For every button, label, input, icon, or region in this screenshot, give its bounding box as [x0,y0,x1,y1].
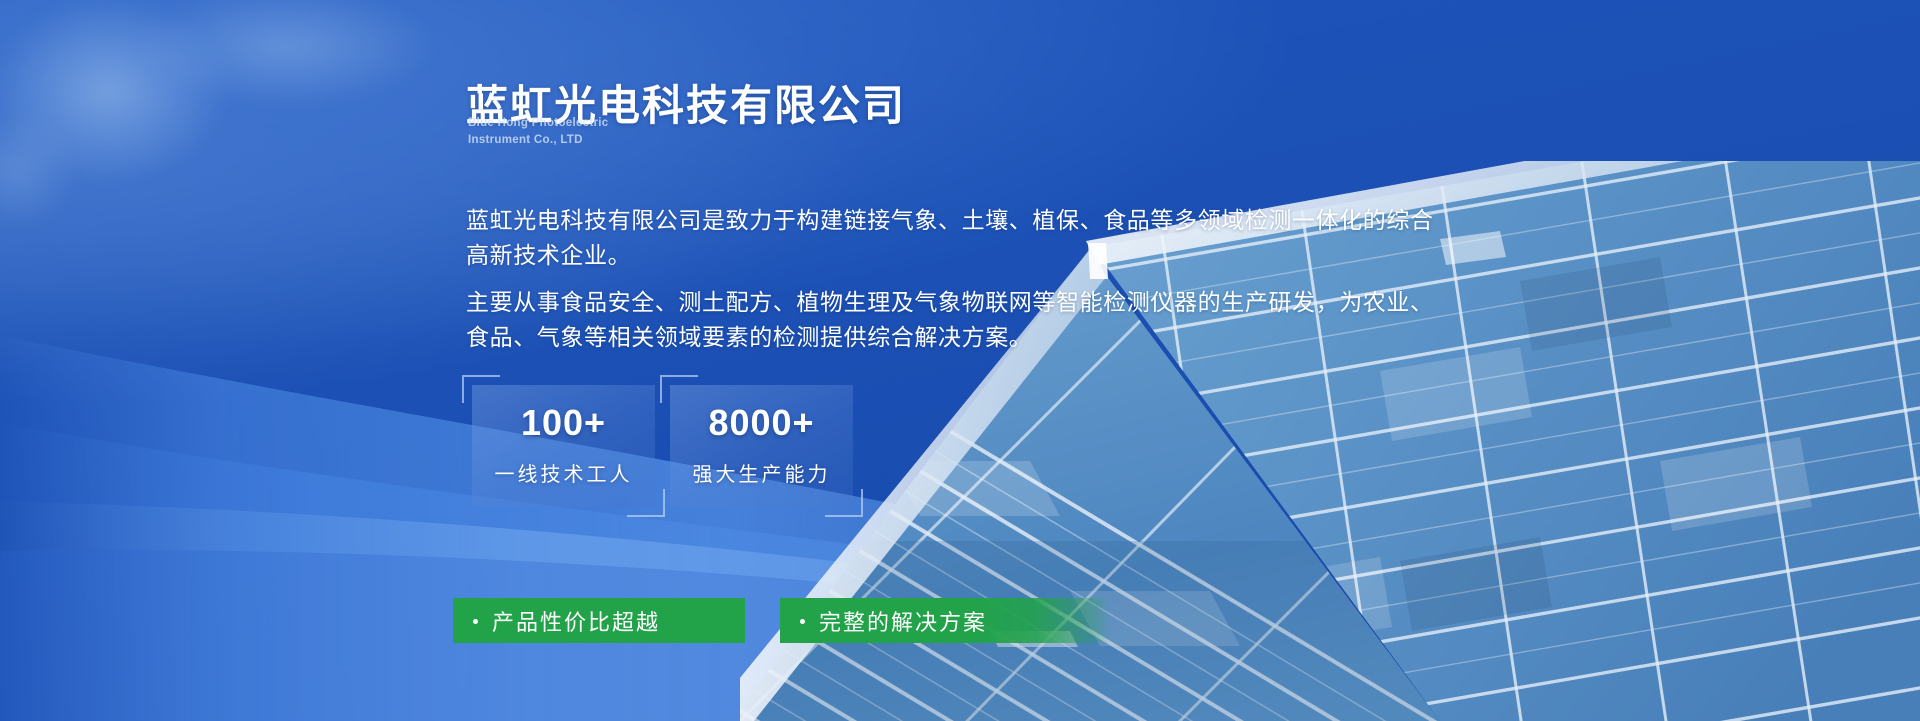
feature-tag-complete-solution[interactable]: 完整的解决方案 [780,598,1110,643]
stat-label: 一线技术工人 [495,458,633,487]
bullet-dot-icon [473,619,478,624]
corner-bracket-bottom-right-icon [627,489,665,517]
corner-bracket-top-left-icon [462,375,500,403]
description-paragraph-2: 主要从事食品安全、测土配方、植物生理及气象物联网等智能检测仪器的生产研发，为农业… [466,285,1456,355]
brand-subtitle-line-1: Blue Hong Photoelectric [468,115,608,132]
stat-card-capacity: 8000+ 强大生产能力 [670,385,853,507]
brand-subtitle-line-2: Instrument Co., LTD [468,132,608,149]
corner-bracket-bottom-right-icon [825,489,863,517]
stat-card-workers: 100+ 一线技术工人 [472,385,655,507]
bullet-dot-icon [800,619,805,624]
stat-label: 强大生产能力 [693,458,831,487]
feature-tags-group: 产品性价比超越 完整的解决方案 [453,598,1110,643]
brand-subtitle: Blue Hong Photoelectric Instrument Co., … [468,115,608,149]
statistics-group: 100+ 一线技术工人 8000+ 强大生产能力 [472,385,853,507]
description-paragraph-1: 蓝虹光电科技有限公司是致力于构建链接气象、土壤、植保、食品等多领域检测一体化的综… [466,203,1456,273]
banner-content: 蓝虹光电科技有限公司 Blue Hong Photoelectric Instr… [0,0,1920,721]
feature-tag-price-advantage[interactable]: 产品性价比超越 [453,598,745,643]
stat-value: 8000+ [708,405,814,441]
feature-tag-label: 产品性价比超越 [492,605,660,637]
stat-value: 100+ [521,405,606,441]
company-banner: 蓝虹光电科技有限公司 Blue Hong Photoelectric Instr… [0,0,1920,721]
corner-bracket-top-left-icon [660,375,698,403]
feature-tag-label: 完整的解决方案 [819,605,987,637]
